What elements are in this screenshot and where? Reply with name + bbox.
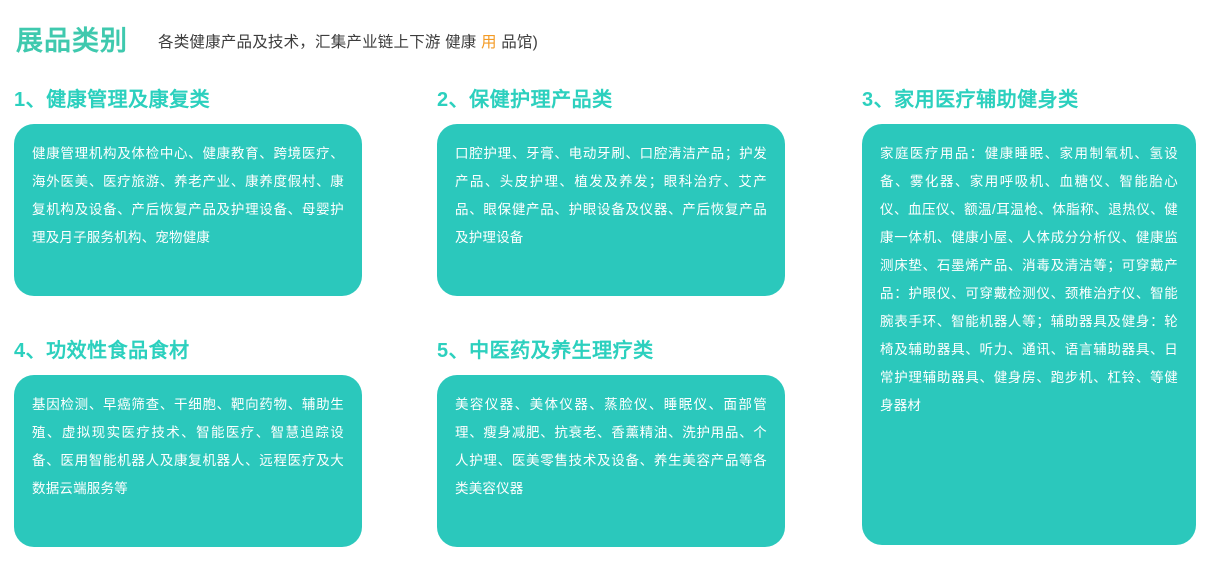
category-heading-1: 1、健康管理及康复类 (14, 90, 362, 110)
category-heading-3: 3、家用医疗辅助健身类 (862, 90, 1196, 110)
page-header: 展品类别 各类健康产品及技术，汇集产业链上下游 健康 用 品馆) (0, 0, 1215, 82)
category-heading-4: 4、功效性食品食材 (14, 341, 362, 361)
category-block-3[interactable]: 3、家用医疗辅助健身类 家庭医疗用品：健康睡眠、家用制氧机、氢设备、雾化器、家用… (862, 90, 1196, 545)
category-heading-5: 5、中医药及养生理疗类 (437, 341, 785, 361)
category-grid: 1、健康管理及康复类 健康管理机构及体检中心、健康教育、跨境医疗、海外医美、医疗… (0, 82, 1215, 578)
subtitle-highlight: 用 (481, 34, 497, 51)
category-body-3: 家庭医疗用品：健康睡眠、家用制氧机、氢设备、雾化器、家用呼吸机、血糖仪、智能胎心… (862, 124, 1196, 545)
category-block-1[interactable]: 1、健康管理及康复类 健康管理机构及体检中心、健康教育、跨境医疗、海外医美、医疗… (14, 90, 362, 296)
category-body-2: 口腔护理、牙膏、电动牙刷、口腔清洁产品；护发产品、头皮护理、植发及养发；眼科治疗… (437, 124, 785, 296)
category-heading-2: 2、保健护理产品类 (437, 90, 785, 110)
page-title: 展品类别 (16, 28, 128, 55)
subtitle-text-tail: 品馆) (497, 34, 538, 51)
subtitle-text-main: 各类健康产品及技术，汇集产业链上下游 健康 (158, 34, 481, 51)
category-body-4: 基因检测、早癌筛查、干细胞、靶向药物、辅助生殖、虚拟现实医疗技术、智能医疗、智慧… (14, 375, 362, 547)
category-block-4[interactable]: 4、功效性食品食材 基因检测、早癌筛查、干细胞、靶向药物、辅助生殖、虚拟现实医疗… (14, 341, 362, 547)
category-body-1: 健康管理机构及体检中心、健康教育、跨境医疗、海外医美、医疗旅游、养老产业、康养度… (14, 124, 362, 296)
category-block-5[interactable]: 5、中医药及养生理疗类 美容仪器、美体仪器、蒸脸仪、睡眠仪、面部管理、瘦身减肥、… (437, 341, 785, 547)
category-block-2[interactable]: 2、保健护理产品类 口腔护理、牙膏、电动牙刷、口腔清洁产品；护发产品、头皮护理、… (437, 90, 785, 296)
category-body-5: 美容仪器、美体仪器、蒸脸仪、睡眠仪、面部管理、瘦身减肥、抗衰老、香薰精油、洗护用… (437, 375, 785, 547)
page-subtitle: 各类健康产品及技术，汇集产业链上下游 健康 用 品馆) (158, 31, 538, 51)
